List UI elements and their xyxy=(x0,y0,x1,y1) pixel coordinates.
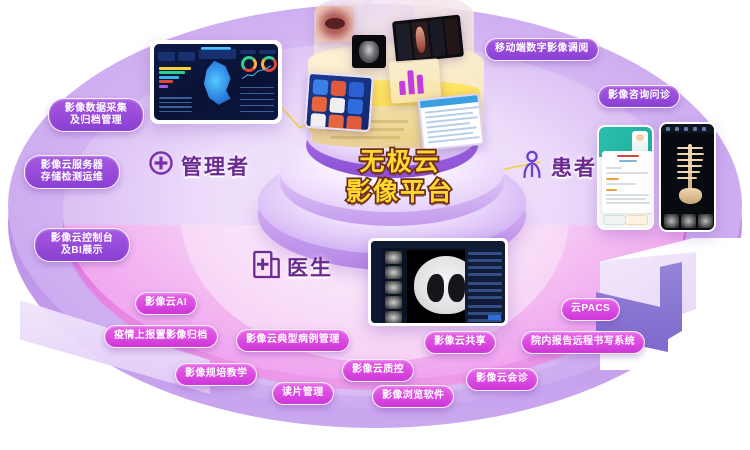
tag-bottom-0-line1: 影像云AI xyxy=(145,297,187,310)
tag-bottom-5-line1: 影像云质控 xyxy=(352,364,404,377)
ct-toolbar xyxy=(371,241,505,248)
clipboard-plus-icon xyxy=(253,250,280,284)
tag-bottom-8-line1: 影像云会诊 xyxy=(476,373,528,386)
slice-thumb xyxy=(698,214,713,228)
disc-notch-rim-side xyxy=(660,262,682,344)
viewer-toolbar xyxy=(661,124,714,133)
endoscopy-thumbnail xyxy=(316,6,354,42)
tag-left-2[interactable]: 影像云控制台 及BI展示 xyxy=(34,228,130,262)
platform-title: 无极云 影像平台 xyxy=(325,148,475,207)
report-action-left[interactable] xyxy=(603,215,626,225)
spreadsheet-thumbnail xyxy=(417,93,484,151)
app-tiles-thumbnail xyxy=(304,72,374,132)
tag-right-1[interactable]: 影像咨询问诊 xyxy=(598,85,680,108)
tag-left-2-line2: 及BI展示 xyxy=(44,245,120,257)
dashboard-region-map xyxy=(199,61,236,105)
tag-bottom-4-line1: 读片管理 xyxy=(282,387,324,400)
tag-bottom-6[interactable]: 影像浏览软件 xyxy=(372,385,454,408)
tag-bottom-8[interactable]: 影像云会诊 xyxy=(466,368,538,391)
tag-bottom-7-line1: 影像云共享 xyxy=(434,336,486,349)
pelvis-render xyxy=(679,188,702,204)
tag-bottom-3-line1: 影像规培教学 xyxy=(185,368,247,381)
tag-bottom-2[interactable]: 影像云典型病例管理 xyxy=(236,329,350,352)
tag-bottom-4[interactable]: 读片管理 xyxy=(272,382,334,405)
person-icon xyxy=(520,150,544,183)
tag-left-1[interactable]: 影像云服务器 存储检测运维 xyxy=(24,155,120,189)
infographic-canvas: 无极云 影像平台 管理者 患者 xyxy=(0,0,750,450)
skeleton-render xyxy=(675,144,705,204)
bi-dashboard-screen xyxy=(154,44,278,120)
tag-left-1-line1: 影像云服务器 xyxy=(34,160,110,172)
ct-panorama-thumbnail xyxy=(392,15,464,64)
platform-title-line1: 无极云 xyxy=(325,148,475,178)
role-doctor[interactable]: 医生 xyxy=(253,250,333,284)
ct-viewer-screen xyxy=(371,241,505,323)
slice-thumb xyxy=(681,214,696,228)
doctor-avatar-icon xyxy=(632,131,648,153)
tag-bottom-0[interactable]: 影像云AI xyxy=(135,292,197,315)
skeleton-3d-screen xyxy=(661,124,714,230)
report-action-right[interactable] xyxy=(625,215,648,225)
tag-left-1-line2: 存储检测运维 xyxy=(34,172,110,184)
tag-bottom-7[interactable]: 影像云共享 xyxy=(424,331,496,354)
tag-right-0[interactable]: 移动端数字影像调阅 xyxy=(485,38,599,61)
role-manager-label: 管理者 xyxy=(181,151,250,181)
slice-thumb xyxy=(664,214,679,228)
ct-tool-rail xyxy=(371,248,382,323)
tag-left-2-line1: 影像云控制台 xyxy=(44,233,120,245)
tag-right-0-line1: 移动端数字影像调阅 xyxy=(495,43,589,56)
patient-report-phone[interactable] xyxy=(597,125,654,230)
tag-bottom-9-line1: 云PACS xyxy=(571,303,610,316)
tag-bottom-2-line1: 影像云典型病例管理 xyxy=(246,334,340,347)
tower-stripe xyxy=(330,136,400,139)
role-patient-label: 患者 xyxy=(551,152,597,182)
tag-bottom-9[interactable]: 云PACS xyxy=(561,298,620,321)
patient-report-screen xyxy=(599,127,652,228)
bi-dashboard-monitor[interactable] xyxy=(150,40,282,124)
tag-bottom-10-line1: 院内报告远程书写系统 xyxy=(531,336,635,349)
tag-bottom-1-line1: 疫情上报置影像归档 xyxy=(114,330,208,343)
ct-lung-right xyxy=(448,274,465,302)
circle-plus-icon xyxy=(148,150,174,181)
tag-bottom-6-line1: 影像浏览软件 xyxy=(382,390,444,403)
tag-bottom-3[interactable]: 影像规培教学 xyxy=(175,363,257,386)
platform-title-line2: 影像平台 xyxy=(325,178,475,208)
tag-right-1-line1: 影像咨询问诊 xyxy=(608,90,670,103)
ct-report-panel xyxy=(465,248,505,323)
tag-bottom-5[interactable]: 影像云质控 xyxy=(342,359,414,382)
tag-bottom-10[interactable]: 院内报告远程书写系统 xyxy=(521,331,645,354)
report-card xyxy=(602,151,652,213)
skeleton-3d-phone[interactable] xyxy=(659,122,716,232)
role-manager[interactable]: 管理者 xyxy=(148,150,250,181)
ultrasound-thumbnail xyxy=(352,35,386,68)
tag-left-0-line1: 影像数据采集 xyxy=(58,103,134,115)
tag-left-0[interactable]: 影像数据采集 及归档管理 xyxy=(48,98,144,132)
role-patient[interactable]: 患者 xyxy=(520,150,597,183)
tag-left-0-line2: 及归档管理 xyxy=(58,115,134,127)
ct-lung-left xyxy=(427,274,444,302)
ct-viewer-monitor[interactable] xyxy=(368,238,508,326)
ct-series-thumbnails xyxy=(382,248,405,323)
role-doctor-label: 医生 xyxy=(287,252,333,282)
tag-bottom-1[interactable]: 疫情上报置影像归档 xyxy=(104,325,218,348)
